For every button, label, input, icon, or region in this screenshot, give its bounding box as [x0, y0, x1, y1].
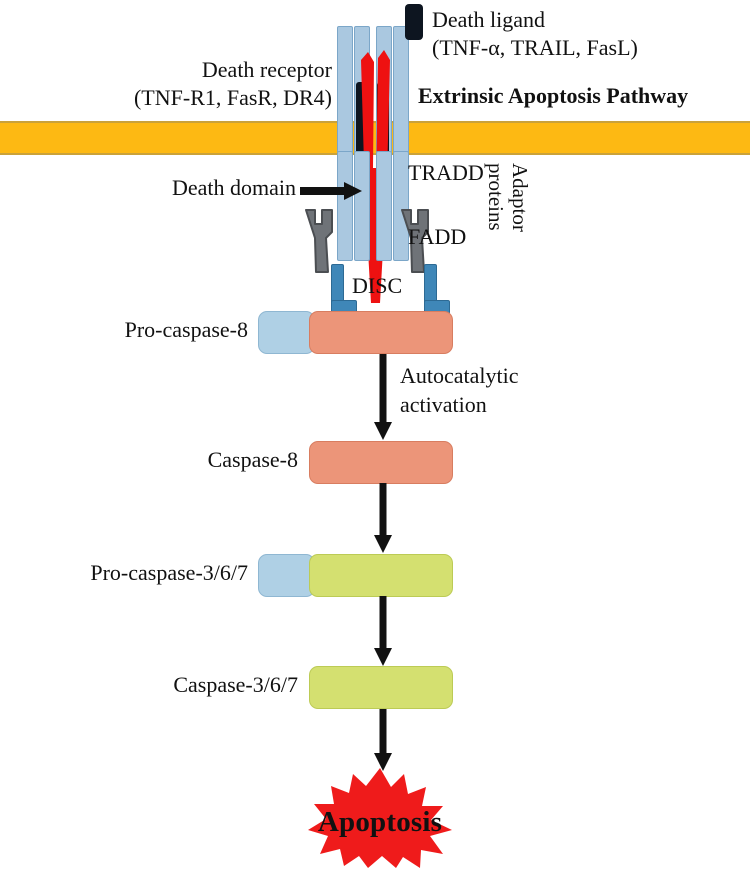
- caspase-8-label: Caspase-8: [80, 448, 298, 473]
- receptor-bar-lower-2: [354, 151, 370, 261]
- pro-caspase-367-prodomain: [258, 554, 315, 597]
- pro-caspase-8-label: Pro-caspase-8: [30, 318, 248, 343]
- death-ligand-swatch: [405, 4, 423, 40]
- receptor-bar-lower-3: [376, 151, 392, 261]
- diagram-title: Extrinsic Apoptosis Pathway: [418, 84, 688, 109]
- caspase-8-body: [309, 441, 453, 484]
- adaptor-proteins-label-line1: Adaptor: [507, 163, 531, 232]
- pro-caspase-367-body: [309, 554, 453, 597]
- arrow-caspase367-to-apoptosis: [372, 709, 394, 771]
- adaptor-proteins-label-line2: proteins: [483, 163, 507, 231]
- arrow-procaspase367-to-caspase367: [372, 596, 394, 666]
- autocatalytic-label-line2: activation: [400, 393, 487, 418]
- receptor-bar-1: [337, 26, 353, 153]
- death-receptor-label-line2: (TNF-R1, FasR, DR4): [40, 86, 332, 111]
- death-ligand-label-line1: Death ligand: [432, 8, 545, 33]
- death-domain-pointer-arrow: [300, 182, 362, 200]
- pathway-diagram: Apoptosis Death ligand (TNF-α, TRAIL, Fa…: [0, 0, 750, 873]
- disc-label: DISC: [352, 274, 402, 299]
- apoptosis-label: Apoptosis: [300, 806, 460, 839]
- arrow-caspase8-to-procaspase367: [372, 483, 394, 553]
- pro-caspase-367-label: Pro-caspase-3/6/7: [20, 561, 248, 586]
- autocatalytic-label-line1: Autocatalytic: [400, 364, 519, 389]
- pro-caspase-8-prodomain: [258, 311, 315, 354]
- pro-caspase-8-body: [309, 311, 453, 354]
- tradd-label: TRADD: [408, 161, 484, 186]
- caspase-367-label: Caspase-3/6/7: [60, 673, 298, 698]
- caspase-367-body: [309, 666, 453, 709]
- death-receptor-label-line1: Death receptor: [40, 58, 332, 83]
- fadd-label: FADD: [408, 225, 466, 250]
- death-ligand-label-line2: (TNF-α, TRAIL, FasL): [432, 36, 638, 61]
- arrow-procaspase8-to-caspase8: [372, 354, 394, 440]
- death-domain-label: Death domain: [40, 176, 296, 201]
